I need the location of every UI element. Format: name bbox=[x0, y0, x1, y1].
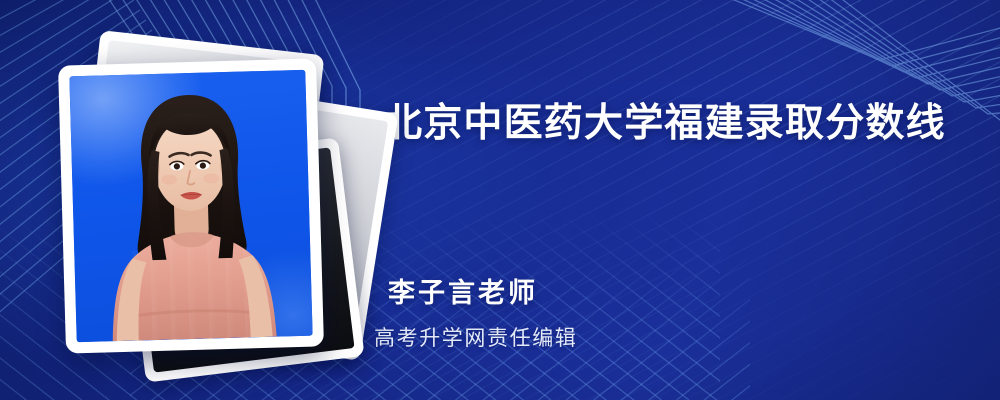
author-role: 高考升学网责任编辑 bbox=[374, 322, 577, 352]
portrait-photo bbox=[69, 70, 312, 342]
page-title: 北京中医药大学福建录取分数线 bbox=[383, 97, 943, 151]
author-name: 李子言老师 bbox=[388, 271, 538, 310]
portrait-figure-icon bbox=[69, 70, 312, 342]
photo-card-stack bbox=[52, 42, 362, 362]
portrait-photo-card bbox=[58, 58, 324, 353]
article-header-banner: 北京中医药大学福建录取分数线 李子言老师 高考升学网责任编辑 bbox=[0, 0, 1000, 400]
